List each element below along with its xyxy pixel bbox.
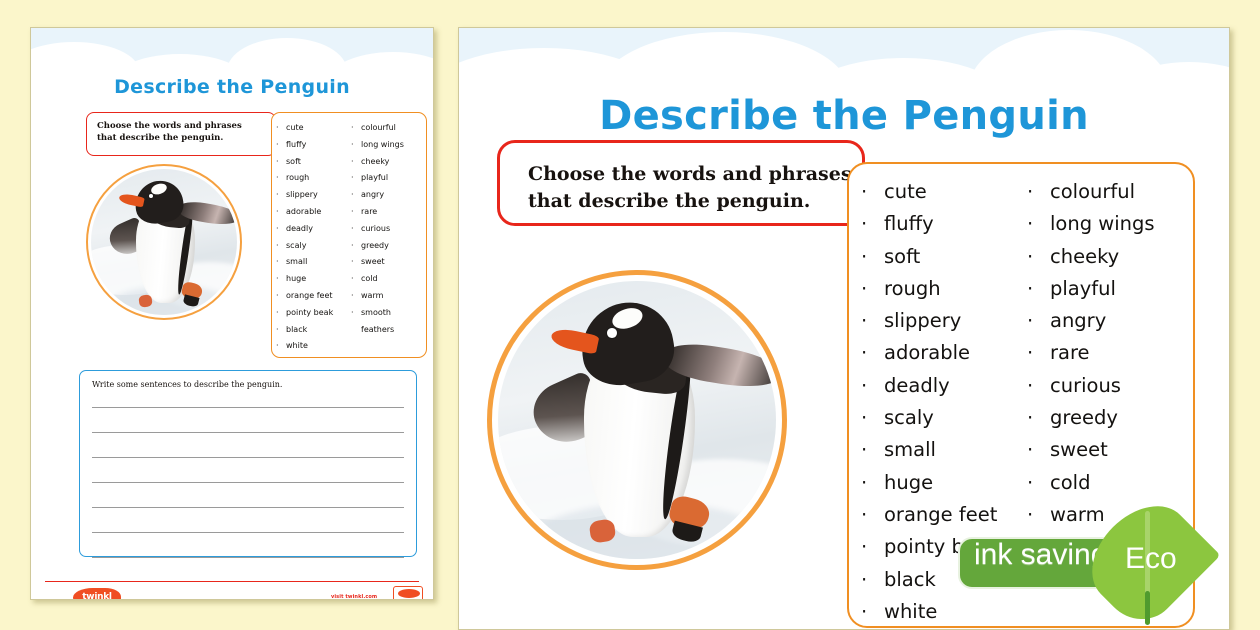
- word-bank-item-label: cheeky: [361, 154, 389, 171]
- word-bank-item[interactable]: ·fluffy: [861, 208, 1027, 240]
- writing-line[interactable]: [92, 457, 404, 458]
- penguin-photo: [498, 281, 776, 559]
- word-bank-item[interactable]: ·cheeky: [1027, 241, 1193, 273]
- twinkl-badge-icon: [393, 586, 423, 600]
- leaf-stem: [1145, 591, 1150, 625]
- word-bank-item[interactable]: ·deadly: [861, 370, 1027, 402]
- word-bank-item-label: angry: [1050, 305, 1106, 337]
- bullet-icon: ·: [276, 221, 286, 238]
- word-bank-item[interactable]: ·slippery: [276, 187, 351, 204]
- word-bank-item-label: scaly: [286, 238, 306, 255]
- writing-line[interactable]: [92, 432, 404, 433]
- word-bank-item[interactable]: ·scaly: [861, 402, 1027, 434]
- bullet-icon: ·: [276, 154, 286, 171]
- word-bank-item-label: playful: [1050, 273, 1116, 305]
- writing-line[interactable]: [92, 507, 404, 508]
- bullet-icon: ·: [1027, 434, 1050, 466]
- bullet-icon: ·: [276, 137, 286, 154]
- word-bank-item[interactable]: ·huge: [861, 467, 1027, 499]
- bullet-icon: ·: [861, 564, 884, 596]
- word-bank-item[interactable]: ·curious: [351, 221, 426, 238]
- word-bank-item-label: cold: [361, 271, 378, 288]
- badge-blob: [398, 589, 420, 598]
- bullet-icon: ·: [861, 499, 884, 531]
- word-bank-item[interactable]: ·small: [861, 434, 1027, 466]
- word-bank-item-label: black: [884, 564, 936, 596]
- word-bank-item-label: deadly: [286, 221, 313, 238]
- bullet-icon: ·: [351, 120, 361, 137]
- bullet-icon: ·: [276, 338, 286, 355]
- leaf-icon: Eco: [1099, 505, 1195, 617]
- word-bank-item-label: cute: [286, 120, 304, 137]
- bullet-icon: ·: [351, 288, 361, 305]
- bullet-icon: ·: [861, 467, 884, 499]
- penguin-photo: [91, 169, 237, 315]
- instruction-text: Choose the words and phrases that descri…: [97, 121, 242, 143]
- word-bank-item-label: rare: [361, 204, 377, 221]
- word-bank-item-label: greedy: [361, 238, 389, 255]
- word-bank-item-label: long wings: [361, 137, 404, 154]
- page-title: Describe the Penguin: [459, 93, 1229, 139]
- word-bank-item-label: colourful: [361, 120, 396, 137]
- word-bank-item-label: pointy beak: [286, 305, 333, 322]
- bullet-icon: ·: [861, 370, 884, 402]
- word-bank-item-label: soft: [884, 241, 920, 273]
- word-bank-item[interactable]: ·rough: [276, 170, 351, 187]
- penguin-photo-frame: [487, 270, 787, 570]
- bullet-icon: ·: [1027, 305, 1050, 337]
- bullet-icon: ·: [1027, 241, 1050, 273]
- word-bank-item[interactable]: ·colourful: [1027, 176, 1193, 208]
- bullet-icon: ·: [276, 288, 286, 305]
- bullet-icon: ·: [1027, 370, 1050, 402]
- word-bank-item[interactable]: ·curious: [1027, 370, 1193, 402]
- word-bank-item-label: long wings: [1050, 208, 1155, 240]
- word-bank-column-right: ·colourful·long wings·cheeky·playful·ang…: [351, 120, 426, 357]
- word-bank-item[interactable]: ·rare: [351, 204, 426, 221]
- word-bank-box[interactable]: ·cute·fluffy·soft·rough·slippery·adorabl…: [271, 112, 427, 358]
- word-bank-item[interactable]: ·slippery: [861, 305, 1027, 337]
- word-bank-item[interactable]: ·rare: [1027, 337, 1193, 369]
- word-bank-item[interactable]: ·fluffy: [276, 137, 351, 154]
- word-bank-item-label: adorable: [286, 204, 321, 221]
- word-bank-item-label: curious: [361, 221, 390, 238]
- writing-line[interactable]: [92, 557, 404, 558]
- bullet-icon: ·: [351, 221, 361, 238]
- bullet-icon: ·: [861, 273, 884, 305]
- word-bank-item[interactable]: ·small: [276, 254, 351, 271]
- word-bank-item[interactable]: ·greedy: [351, 238, 426, 255]
- bullet-icon: ·: [1027, 208, 1050, 240]
- bullet-icon: ·: [276, 271, 286, 288]
- word-bank-item[interactable]: ·cold: [1027, 467, 1193, 499]
- word-bank-item[interactable]: ·smooth feathers: [351, 305, 426, 339]
- bullet-icon: ·: [861, 305, 884, 337]
- word-bank-item[interactable]: ·scaly: [276, 238, 351, 255]
- writing-area-box[interactable]: Write some sentences to describe the pen…: [79, 370, 417, 557]
- word-bank-item-label: fluffy: [884, 208, 934, 240]
- word-bank-item-label: cold: [1050, 467, 1090, 499]
- word-bank-item[interactable]: ·soft: [861, 241, 1027, 273]
- word-bank-item[interactable]: ·long wings: [1027, 208, 1193, 240]
- word-bank-item-label: deadly: [884, 370, 950, 402]
- bullet-icon: ·: [351, 271, 361, 288]
- word-bank-item-label: sweet: [1050, 434, 1108, 466]
- writing-line[interactable]: [92, 532, 404, 533]
- footer-divider: [45, 581, 419, 582]
- bullet-icon: ·: [351, 204, 361, 221]
- word-bank-item[interactable]: ·soft: [276, 154, 351, 171]
- word-bank-item-label: colourful: [1050, 176, 1135, 208]
- bullet-icon: ·: [1027, 273, 1050, 305]
- bullet-icon: ·: [351, 238, 361, 255]
- word-bank-item-label: small: [286, 254, 307, 271]
- bullet-icon: ·: [861, 402, 884, 434]
- word-bank-item-label: curious: [1050, 370, 1121, 402]
- penguin-left-foot: [138, 294, 153, 307]
- word-bank-item[interactable]: ·playful: [1027, 273, 1193, 305]
- bullet-icon: ·: [861, 531, 884, 563]
- bullet-icon: ·: [1027, 337, 1050, 369]
- word-bank-item[interactable]: ·colourful: [351, 120, 426, 137]
- word-bank-column-left: ·cute·fluffy·soft·rough·slippery·adorabl…: [276, 120, 351, 357]
- bullet-icon: ·: [276, 204, 286, 221]
- word-bank-item[interactable]: ·huge: [276, 271, 351, 288]
- word-bank-item-label: smooth feathers: [361, 305, 394, 339]
- word-bank-item-label: orange feet: [286, 288, 333, 305]
- bullet-icon: ·: [861, 337, 884, 369]
- instruction-text: Choose the words and phrases that descri…: [528, 163, 852, 212]
- bullet-icon: ·: [351, 305, 361, 339]
- word-bank-item[interactable]: ·angry: [351, 187, 426, 204]
- bullet-icon: ·: [1027, 402, 1050, 434]
- word-bank-item-label: huge: [884, 467, 933, 499]
- ink-saving-eco-badge: ink saving Eco: [958, 527, 1196, 591]
- page-title: Describe the Penguin: [31, 76, 433, 98]
- twinkl-logo: twinkl: [73, 588, 121, 600]
- penguin-photo-frame: [86, 164, 242, 320]
- bullet-icon: ·: [1027, 176, 1050, 208]
- bullet-icon: ·: [351, 137, 361, 154]
- word-bank-item[interactable]: ·white: [276, 338, 351, 355]
- word-bank-item-label: cute: [884, 176, 927, 208]
- word-bank-item[interactable]: ·playful: [351, 170, 426, 187]
- word-bank-item-label: soft: [286, 154, 301, 171]
- bullet-icon: ·: [276, 170, 286, 187]
- thumbnail-page-preview[interactable]: Describe the Penguin Choose the words an…: [30, 27, 434, 600]
- eco-leaf-label: Eco: [1125, 542, 1177, 576]
- eco-pill-label: ink saving: [974, 538, 1107, 572]
- writing-line[interactable]: [92, 407, 404, 408]
- writing-prompt-label: Write some sentences to describe the pen…: [92, 380, 282, 389]
- word-bank-item-label: rare: [1050, 337, 1090, 369]
- word-bank-item-label: cheeky: [1050, 241, 1119, 273]
- word-bank-item[interactable]: ·cold: [351, 271, 426, 288]
- word-bank-item[interactable]: ·white: [861, 596, 1027, 628]
- word-bank-item-label: warm: [361, 288, 383, 305]
- word-bank-item-label: playful: [361, 170, 388, 187]
- word-bank-item-label: angry: [361, 187, 384, 204]
- word-bank-item-label: rough: [286, 170, 309, 187]
- word-bank-item-label: white: [884, 596, 937, 628]
- bullet-icon: ·: [861, 208, 884, 240]
- bullet-icon: ·: [351, 170, 361, 187]
- word-bank-item-label: black: [286, 322, 307, 339]
- bullet-icon: ·: [861, 241, 884, 273]
- penguin-eye: [606, 327, 618, 339]
- bullet-icon: ·: [861, 176, 884, 208]
- bullet-icon: ·: [351, 254, 361, 271]
- word-bank-item[interactable]: ·rough: [861, 273, 1027, 305]
- word-bank-item[interactable]: ·long wings: [351, 137, 426, 154]
- word-bank-item[interactable]: ·orange feet: [276, 288, 351, 305]
- word-bank-item[interactable]: ·adorable: [276, 204, 351, 221]
- bullet-icon: ·: [1027, 467, 1050, 499]
- bullet-icon: ·: [351, 154, 361, 171]
- word-bank-item[interactable]: ·cheeky: [351, 154, 426, 171]
- bullet-icon: ·: [351, 187, 361, 204]
- instruction-box: Choose the words and phrases that descri…: [86, 112, 276, 156]
- word-bank-item-label: sweet: [361, 254, 385, 271]
- bullet-icon: ·: [861, 434, 884, 466]
- word-bank-item-label: white: [286, 338, 308, 355]
- bullet-icon: ·: [276, 187, 286, 204]
- word-bank-item-label: small: [884, 434, 936, 466]
- word-bank-item[interactable]: ·angry: [1027, 305, 1193, 337]
- bullet-icon: ·: [276, 238, 286, 255]
- word-bank-item[interactable]: ·pointy beak: [276, 305, 351, 322]
- bullet-icon: ·: [276, 120, 286, 137]
- writing-line[interactable]: [92, 482, 404, 483]
- word-bank-item-label: slippery: [286, 187, 318, 204]
- word-bank-item-label: adorable: [884, 337, 970, 369]
- word-bank-item-label: scaly: [884, 402, 934, 434]
- word-bank-item[interactable]: ·deadly: [276, 221, 351, 238]
- word-bank-item-label: fluffy: [286, 137, 306, 154]
- word-bank-item[interactable]: ·warm: [351, 288, 426, 305]
- word-bank-item[interactable]: ·black: [276, 322, 351, 339]
- bullet-icon: ·: [861, 596, 884, 628]
- word-bank-item[interactable]: ·cute: [276, 120, 351, 137]
- word-bank-item-label: slippery: [884, 305, 961, 337]
- word-bank-item-label: rough: [884, 273, 941, 305]
- word-bank-item[interactable]: ·greedy: [1027, 402, 1193, 434]
- bullet-icon: ·: [276, 254, 286, 271]
- word-bank-item[interactable]: ·adorable: [861, 337, 1027, 369]
- visit-site-text: visit twinkl.com: [331, 594, 377, 600]
- word-bank-item[interactable]: ·cute: [861, 176, 1027, 208]
- word-bank-item[interactable]: ·sweet: [351, 254, 426, 271]
- word-bank-item[interactable]: ·sweet: [1027, 434, 1193, 466]
- word-bank-item-label: greedy: [1050, 402, 1118, 434]
- bullet-icon: ·: [276, 322, 286, 339]
- instruction-box: Choose the words and phrases that descri…: [497, 140, 865, 226]
- bullet-icon: ·: [276, 305, 286, 322]
- word-bank-item-label: huge: [286, 271, 306, 288]
